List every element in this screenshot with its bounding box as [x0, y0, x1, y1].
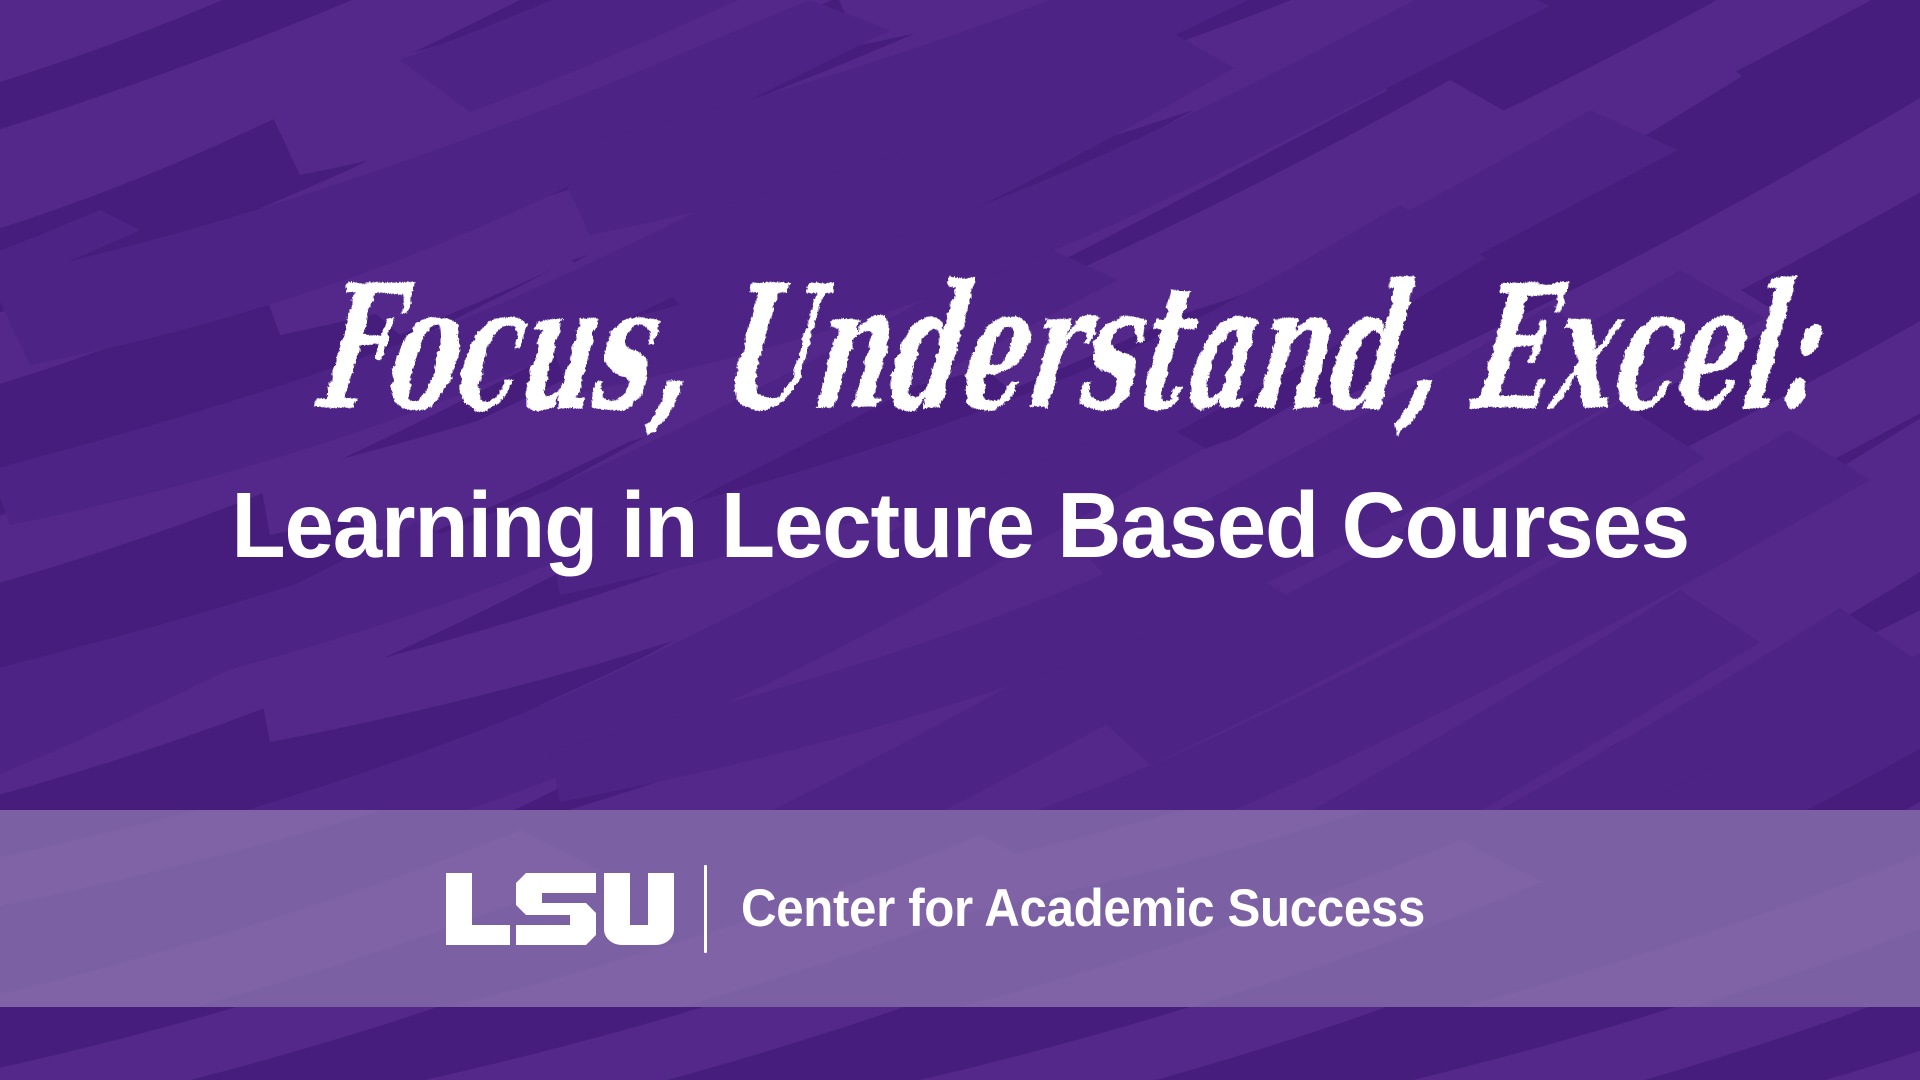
bottom-strip	[0, 1007, 1920, 1080]
unit-name-text: Center for Academic Success	[741, 878, 1425, 939]
footer-content: Center for Academic Success	[0, 810, 1920, 1007]
lsu-wordmark-logo	[444, 871, 676, 947]
footer-band: Center for Academic Success	[0, 810, 1920, 1007]
subtitle-text: Learning in Lecture Based Courses	[231, 478, 1689, 573]
script-headline-text: Focus, Understand, Excel:	[307, 246, 1842, 449]
vertical-divider-icon	[704, 865, 707, 953]
slide-canvas: Focus, Understand, Excel: Learning in Le…	[0, 0, 1920, 1080]
script-headline-svg: Focus, Understand, Excel:	[100, 238, 1820, 468]
script-headline-wrap: Focus, Understand, Excel:	[100, 238, 1820, 468]
bottom-strip-texture	[0, 1007, 1920, 1080]
title-block: Focus, Understand, Excel: Learning in Le…	[0, 0, 1920, 810]
